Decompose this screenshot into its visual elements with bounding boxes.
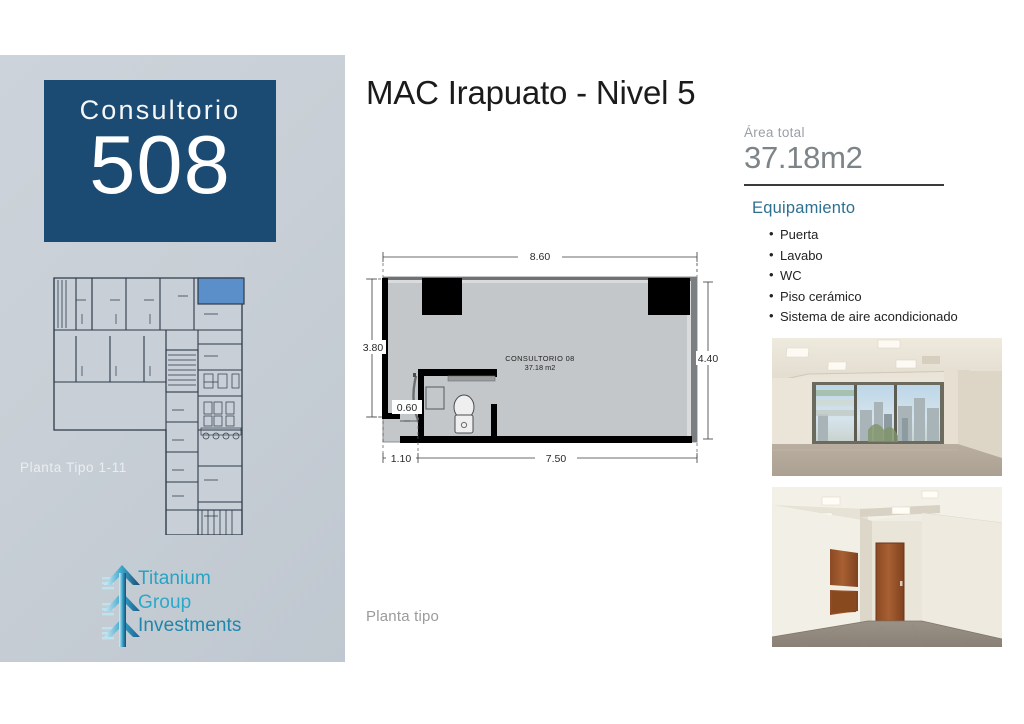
list-item: WC bbox=[780, 266, 1002, 287]
info-panel: Área total 37.18m2 Equipamiento Puerta L… bbox=[744, 125, 1002, 328]
wall-bath-top bbox=[418, 369, 497, 376]
dim-inset: 0.60 bbox=[397, 402, 418, 414]
floor-plan-svg: 8.60 bbox=[360, 245, 720, 480]
photo-office-interior-window-view bbox=[772, 338, 1002, 482]
equipment-heading: Equipamiento bbox=[752, 199, 1002, 218]
page-title: MAC Irapuato - Nivel 5 bbox=[366, 74, 695, 112]
equipment-list: Puerta Lavabo WC Piso cerámico Sistema d… bbox=[744, 225, 1002, 328]
dim-left: 3.80 bbox=[363, 342, 384, 354]
room-area-label: 37.18 m2 bbox=[525, 363, 556, 372]
photo-office-interior-wooden-doors bbox=[772, 487, 1002, 647]
keyplan-highlight-unit bbox=[198, 278, 244, 304]
dim-bottom-right: 7.50 bbox=[546, 453, 567, 465]
window-block-left bbox=[422, 278, 462, 315]
room-label: CONSULTORIO 08 bbox=[505, 354, 574, 363]
wc-fixture bbox=[454, 395, 474, 433]
floor-plan-drawing: 8.60 bbox=[360, 245, 720, 480]
unit-title-block: Consultorio 508 bbox=[44, 80, 276, 242]
list-item: Sistema de aire acondicionado bbox=[780, 307, 1002, 328]
unit-number: 508 bbox=[44, 126, 276, 205]
keyplan-diagram bbox=[46, 270, 296, 535]
logo-line-1: Titanium bbox=[138, 567, 242, 591]
keyplan-svg bbox=[46, 270, 296, 535]
list-item: Puerta bbox=[780, 225, 1002, 246]
list-item: Lavabo bbox=[780, 246, 1002, 267]
list-item: Piso cerámico bbox=[780, 287, 1002, 308]
area-total-value: 37.18m2 bbox=[744, 141, 1002, 175]
divider bbox=[744, 184, 944, 186]
logo-wordmark: Titanium Group Investments bbox=[138, 567, 242, 638]
area-total-label: Área total bbox=[744, 125, 1002, 140]
sidebar: Consultorio 508 bbox=[0, 55, 345, 662]
floor-plan-caption: Planta tipo bbox=[366, 608, 439, 625]
window-block-right bbox=[648, 278, 690, 315]
logo-line-3: Investments bbox=[138, 614, 242, 638]
logo-line-2: Group bbox=[138, 591, 242, 615]
dim-bottom-left: 1.10 bbox=[391, 453, 412, 465]
wall-bottom bbox=[400, 436, 692, 443]
dim-top: 8.60 bbox=[530, 251, 551, 263]
company-logo: Titanium Group Investments bbox=[100, 563, 300, 649]
dim-right: 4.40 bbox=[698, 353, 719, 365]
keyplan-caption: Planta Tipo 1-11 bbox=[20, 460, 127, 475]
wall-bath-right bbox=[491, 404, 497, 437]
